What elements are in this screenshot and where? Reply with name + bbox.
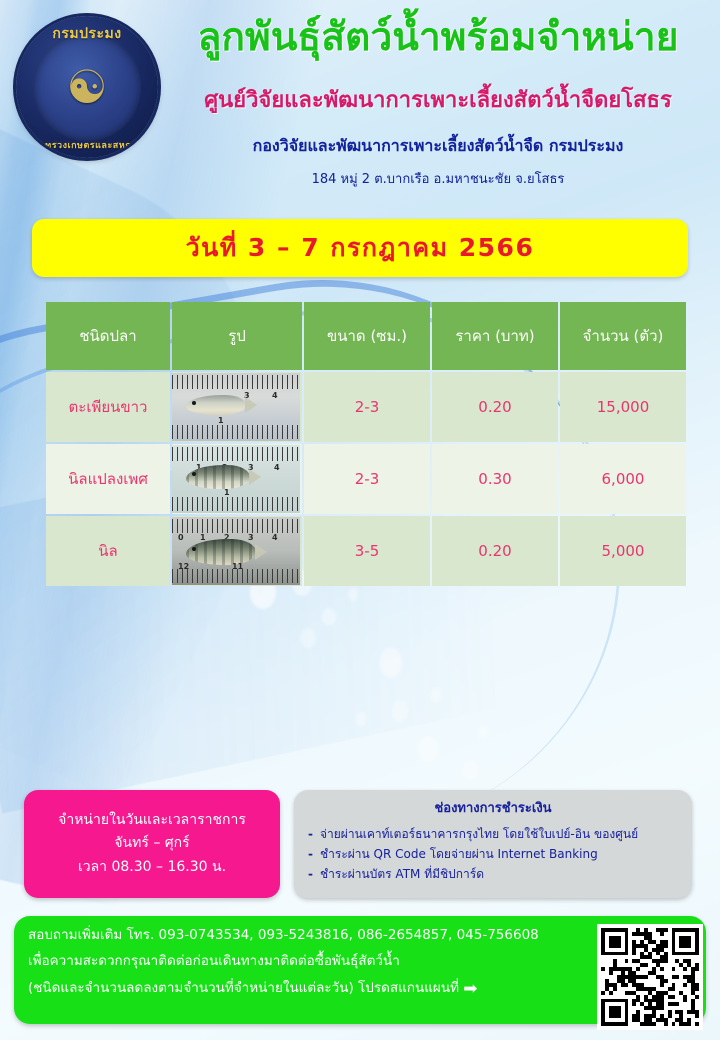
payment-methods-box: ช่องทางการชำระเงิน จ่ายผ่านเคาท์เตอร์ธนา… [294,790,692,898]
fish-silhouette [186,465,250,489]
sex-reversed-tilapia-fry-photo: 1 2 3 4 1 [172,445,300,513]
ruler-mark: 4 [274,463,280,472]
date-banner: วันที่ 3 – 7 กรกฎาคม 2566 [32,219,688,277]
right-arrow-icon: ➡ [463,979,477,999]
garuda-emblem-icon: ☯ [16,64,158,110]
ruler-mark: 12 [178,562,189,571]
column-header-size: ขนาด (ซม.) [304,302,430,370]
cell-quantity: 5,000 [560,516,686,586]
table-row: ตะเพียนขาว 3 4 1 2-3 0.20 15,000 [46,372,686,442]
cell-fish-photo: 0 1 2 3 4 12 11 [172,516,302,586]
cell-price: 0.20 [432,372,558,442]
column-header-price: ราคา (บาท) [432,302,558,370]
cell-price: 0.30 [432,444,558,514]
contact-phone-line: สอบถามเพิ่มเติม โทร. 093-0743534, 093-52… [28,926,692,946]
contact-advice-line: เพื่อความสะดวกกรุณาติดต่อก่อนเดินทางมาติ… [28,952,692,972]
date-banner-text: วันที่ 3 – 7 กรกฎาคม 2566 [186,228,535,268]
poster-root: ☯ กรมประมง กระทรวงเกษตรและสหกรณ์ ลูกพันธ… [0,0,720,1040]
cell-fish-photo: 3 4 1 [172,372,302,442]
cell-fish-photo: 1 2 3 4 1 [172,444,302,514]
payment-method-item: จ่ายผ่านเคาท์เตอร์ธนาคารกรุงไทย โดยใช้ใบ… [306,824,680,844]
ruler-mark: 11 [232,562,243,571]
cell-species: นิล [46,516,170,586]
table-row: นิลแปลงเพศ 1 2 3 4 1 2-3 [46,444,686,514]
contact-note-text: (ชนิดและจำนวนลดลงตามจำนวนที่จำหน่ายในแต่… [28,980,459,996]
cell-species: นิลแปลงเพศ [46,444,170,514]
cell-price: 0.20 [432,516,558,586]
ruler-mark: 3 [248,533,254,542]
fish-silhouette [186,395,246,415]
department-of-fisheries-logo: ☯ กรมประมง กระทรวงเกษตรและสหกรณ์ [16,16,158,158]
payment-methods-title: ช่องทางการชำระเงิน [306,797,680,818]
qr-code-matrix [601,928,699,1026]
map-qr-code[interactable] [597,924,703,1030]
column-header-species: ชนิดปลา [46,302,170,370]
column-header-quantity: จำนวน (ตัว) [560,302,686,370]
poster-header: ☯ กรมประมง กระทรวงเกษตรและสหกรณ์ ลูกพันธ… [0,0,720,205]
fish-silhouette [186,539,256,565]
column-header-image: รูป [172,302,302,370]
address-line: 184 หมู่ 2 ต.บากเรือ อ.มหาชนะชัย จ.ยโสธร [160,172,716,188]
logo-bottom-label: กระทรวงเกษตรและสหกรณ์ [16,138,158,152]
ruler-mark: 1 [218,416,224,425]
cell-species: ตะเพียนขาว [46,372,170,442]
hours-line-3: เวลา 08.30 – 16.30 น. [78,859,226,877]
ruler-mark: 4 [272,391,278,400]
table-row: นิล 0 1 2 3 4 12 11 [46,516,686,586]
payment-methods-list: จ่ายผ่านเคาท์เตอร์ธนาคารกรุงไทย โดยใช้ใบ… [306,824,680,884]
division-name-subtitle: กองวิจัยและพัฒนาการเพาะเลี้ยงสัตว์น้ำจืด… [160,136,716,155]
cell-size: 2-3 [304,372,430,442]
ruler-mark: 4 [272,533,278,542]
cell-quantity: 15,000 [560,372,686,442]
hours-line-2: จันทร์ – ศุกร์ [114,835,189,853]
contact-note-line: (ชนิดและจำนวนลดลงตามจำนวนที่จำหน่ายในแต่… [28,977,692,1002]
ruler-mark: 0 [178,533,184,542]
cell-size: 3-5 [304,516,430,586]
logo-top-label: กรมประมง [16,23,158,45]
payment-method-item: ชำระผ่านบัตร ATM ที่มีชิปการ์ด [306,864,680,884]
business-hours-box: จำหน่ายในวันและเวลาราชการ จันทร์ – ศุกร์… [24,790,280,898]
ruler-mark: 1 [224,488,230,497]
tilapia-fry-photo: 0 1 2 3 4 12 11 [172,517,300,585]
payment-method-item: ชำระผ่าน QR Code โดยจ่ายผ่าน Internet Ba… [306,844,680,864]
cell-size: 2-3 [304,444,430,514]
center-name-subtitle: ศูนย์วิจัยและพัฒนาการเพาะเลี้ยงสัตว์น้ำจ… [160,88,716,113]
page-title: ลูกพันธุ์สัตว์น้ำพร้อมจำหน่าย [168,18,708,59]
silver-barb-fry-photo: 3 4 1 [172,373,300,441]
fish-stock-table: ชนิดปลา รูป ขนาด (ซม.) ราคา (บาท) จำนวน … [44,300,688,588]
table-header-row: ชนิดปลา รูป ขนาด (ซม.) ราคา (บาท) จำนวน … [46,302,686,370]
cell-quantity: 6,000 [560,444,686,514]
hours-line-1: จำหน่ายในวันและเวลาราชการ [58,812,246,830]
